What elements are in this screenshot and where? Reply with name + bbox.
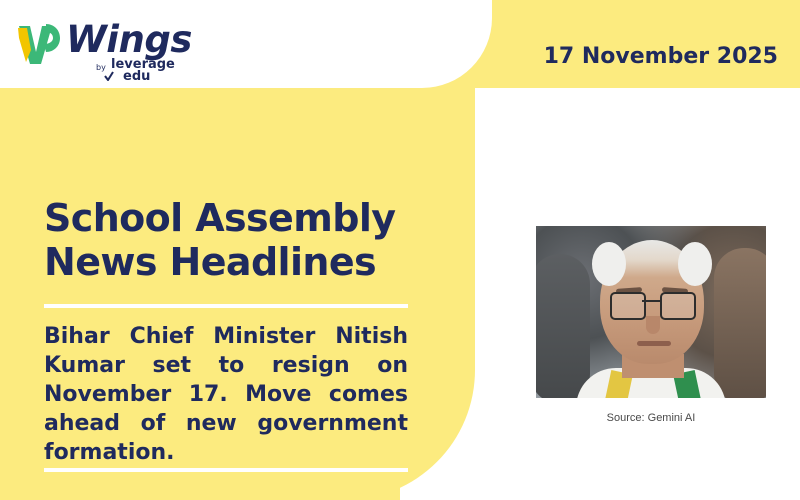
headline-line-2: News Headlines <box>44 240 444 284</box>
divider-top <box>44 304 408 308</box>
photo-source-caption: Source: Gemini AI <box>536 412 766 424</box>
brand-sub-line2: edu <box>123 71 175 83</box>
photo-glasses-left-lens <box>610 292 646 320</box>
wings-logo-icon <box>16 22 62 66</box>
brand-sub-wordmark: leverage edu <box>111 59 175 83</box>
photo-glasses-right-lens <box>660 292 696 320</box>
divider-bottom <box>44 468 408 472</box>
photo-glasses-bridge <box>642 300 660 302</box>
photo-mouth <box>637 341 671 346</box>
photo-bystander-left <box>536 254 590 398</box>
brand-logo[interactable]: Wings by leverage edu <box>16 18 201 90</box>
headline-line-1: School Assembly <box>44 196 444 240</box>
news-headline-card: Wings by leverage edu 17 November 2025 S… <box>0 0 800 500</box>
photo-hair-left <box>592 242 626 286</box>
nitish-kumar-photo <box>536 226 766 398</box>
news-summary-text: Bihar Chief Minister Nitish Kumar set to… <box>44 322 408 467</box>
photo-nose <box>646 316 660 334</box>
header-date: 17 November 2025 <box>544 44 778 69</box>
photo-hair-right <box>678 242 712 286</box>
brand-wordmark: Wings <box>66 18 192 61</box>
page-title: School Assembly News Headlines <box>44 196 444 284</box>
photo-bystander-right <box>714 248 766 398</box>
